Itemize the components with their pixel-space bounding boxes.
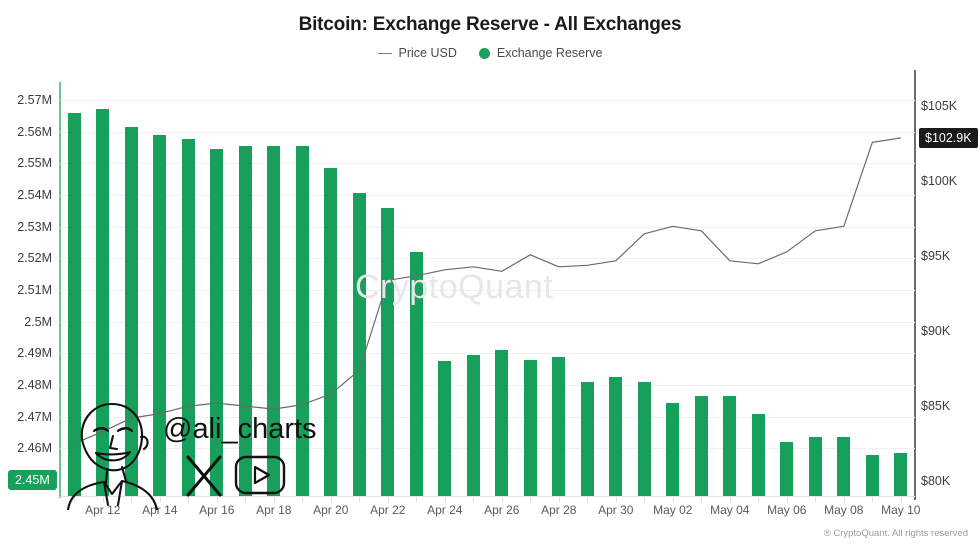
x-axis-tick-label: May 02 bbox=[653, 503, 692, 517]
x-axis-tick bbox=[872, 497, 873, 502]
x-axis-tick bbox=[787, 497, 788, 502]
dot-marker-icon bbox=[479, 48, 490, 59]
x-axis-tick bbox=[758, 497, 759, 502]
y-axis-right-labels: $105K$100K$95K$90K$85K$80K bbox=[921, 0, 980, 551]
x-axis-tick bbox=[616, 497, 617, 502]
x-axis-tick bbox=[559, 497, 560, 502]
x-axis-tick-label: Apr 28 bbox=[541, 503, 576, 517]
x-axis-tick-label: Apr 26 bbox=[484, 503, 519, 517]
x-axis-tick bbox=[302, 497, 303, 502]
x-axis-tick bbox=[217, 497, 218, 502]
y-axis-right-tick-label: $90K bbox=[921, 324, 950, 338]
x-axis-tick bbox=[331, 497, 332, 502]
x-axis-tick-label: May 06 bbox=[767, 503, 806, 517]
x-axis-labels: Apr 12Apr 14Apr 16Apr 18Apr 20Apr 22Apr … bbox=[60, 503, 915, 523]
x-axis-tick bbox=[445, 497, 446, 502]
x-axis-tick bbox=[701, 497, 702, 502]
x-axis-tick bbox=[844, 497, 845, 502]
x-axis-tick bbox=[188, 497, 189, 502]
y-axis-left-tick-label: 2.52M bbox=[17, 251, 52, 265]
chart-legend: Price USD Exchange Reserve bbox=[0, 46, 980, 60]
legend-label-reserve: Exchange Reserve bbox=[497, 46, 603, 60]
y-axis-right-tick-label: $95K bbox=[921, 249, 950, 263]
x-axis-tick-label: Apr 30 bbox=[598, 503, 633, 517]
x-axis-tick-label: Apr 20 bbox=[313, 503, 348, 517]
x-axis-tick-label: Apr 22 bbox=[370, 503, 405, 517]
y-axis-left-badge: 2.45M bbox=[8, 470, 57, 490]
y-axis-right-tick-label: $105K bbox=[921, 99, 957, 113]
chart-root: Bitcoin: Exchange Reserve - All Exchange… bbox=[0, 0, 980, 551]
y-axis-left-tick-label: 2.55M bbox=[17, 156, 52, 170]
y-axis-left-tick-label: 2.49M bbox=[17, 346, 52, 360]
y-axis-right-tick-label: $100K bbox=[921, 174, 957, 188]
x-axis-tick-label: Apr 16 bbox=[199, 503, 234, 517]
x-axis-tick bbox=[103, 497, 104, 502]
x-axis-tick-label: Apr 12 bbox=[85, 503, 120, 517]
plot-area bbox=[60, 84, 915, 496]
x-axis-tick bbox=[502, 497, 503, 502]
legend-label-price: Price USD bbox=[399, 46, 457, 60]
x-axis-tick bbox=[416, 497, 417, 502]
y-axis-left-tick-label: 2.57M bbox=[17, 93, 52, 107]
x-axis-tick bbox=[530, 497, 531, 502]
x-axis-tick bbox=[388, 497, 389, 502]
y-axis-left-tick-label: 2.51M bbox=[17, 283, 52, 297]
legend-item-price[interactable]: Price USD bbox=[378, 46, 457, 60]
y-axis-left-tick-label: 2.48M bbox=[17, 378, 52, 392]
y-axis-left-tick-label: 2.54M bbox=[17, 188, 52, 202]
y-axis-left-tick-label: 2.5M bbox=[24, 315, 52, 329]
x-axis-tick-label: May 08 bbox=[824, 503, 863, 517]
x-axis-tick-label: Apr 14 bbox=[142, 503, 177, 517]
y-axis-left-tick-label: 2.56M bbox=[17, 125, 52, 139]
legend-item-reserve[interactable]: Exchange Reserve bbox=[479, 46, 603, 60]
y-axis-left-labels: 2.57M2.56M2.55M2.54M2.53M2.52M2.51M2.5M2… bbox=[0, 0, 52, 551]
x-axis-tick bbox=[730, 497, 731, 502]
x-axis-tick bbox=[587, 497, 588, 502]
line-series-price-usd bbox=[60, 84, 915, 496]
y-axis-right-badge: $102.9K bbox=[919, 128, 978, 148]
x-axis-tick-label: Apr 24 bbox=[427, 503, 462, 517]
y-axis-right-tick-label: $80K bbox=[921, 474, 950, 488]
x-axis-tick bbox=[901, 497, 902, 502]
copyright-footer: ® CryptoQuant. All rights reserved bbox=[824, 528, 968, 539]
x-axis-tick bbox=[245, 497, 246, 502]
y-axis-left-tick-label: 2.53M bbox=[17, 220, 52, 234]
x-axis-tick-label: May 10 bbox=[881, 503, 920, 517]
line-marker-icon bbox=[378, 53, 392, 54]
x-axis-tick bbox=[815, 497, 816, 502]
x-axis-tick bbox=[473, 497, 474, 502]
y-axis-left-tick-label: 2.47M bbox=[17, 410, 52, 424]
x-axis-tick bbox=[131, 497, 132, 502]
x-axis-tick bbox=[160, 497, 161, 502]
x-axis-tick-label: May 04 bbox=[710, 503, 749, 517]
x-axis-tick bbox=[673, 497, 674, 502]
y-axis-right-tick-label: $85K bbox=[921, 399, 950, 413]
x-axis-tick-label: Apr 18 bbox=[256, 503, 291, 517]
x-axis-tick bbox=[359, 497, 360, 502]
page-title: Bitcoin: Exchange Reserve - All Exchange… bbox=[0, 14, 980, 36]
x-axis-tick bbox=[274, 497, 275, 502]
x-axis-tick bbox=[74, 497, 75, 502]
y-axis-left-tick-label: 2.46M bbox=[17, 441, 52, 455]
x-axis-tick bbox=[644, 497, 645, 502]
price-polyline bbox=[74, 138, 901, 444]
